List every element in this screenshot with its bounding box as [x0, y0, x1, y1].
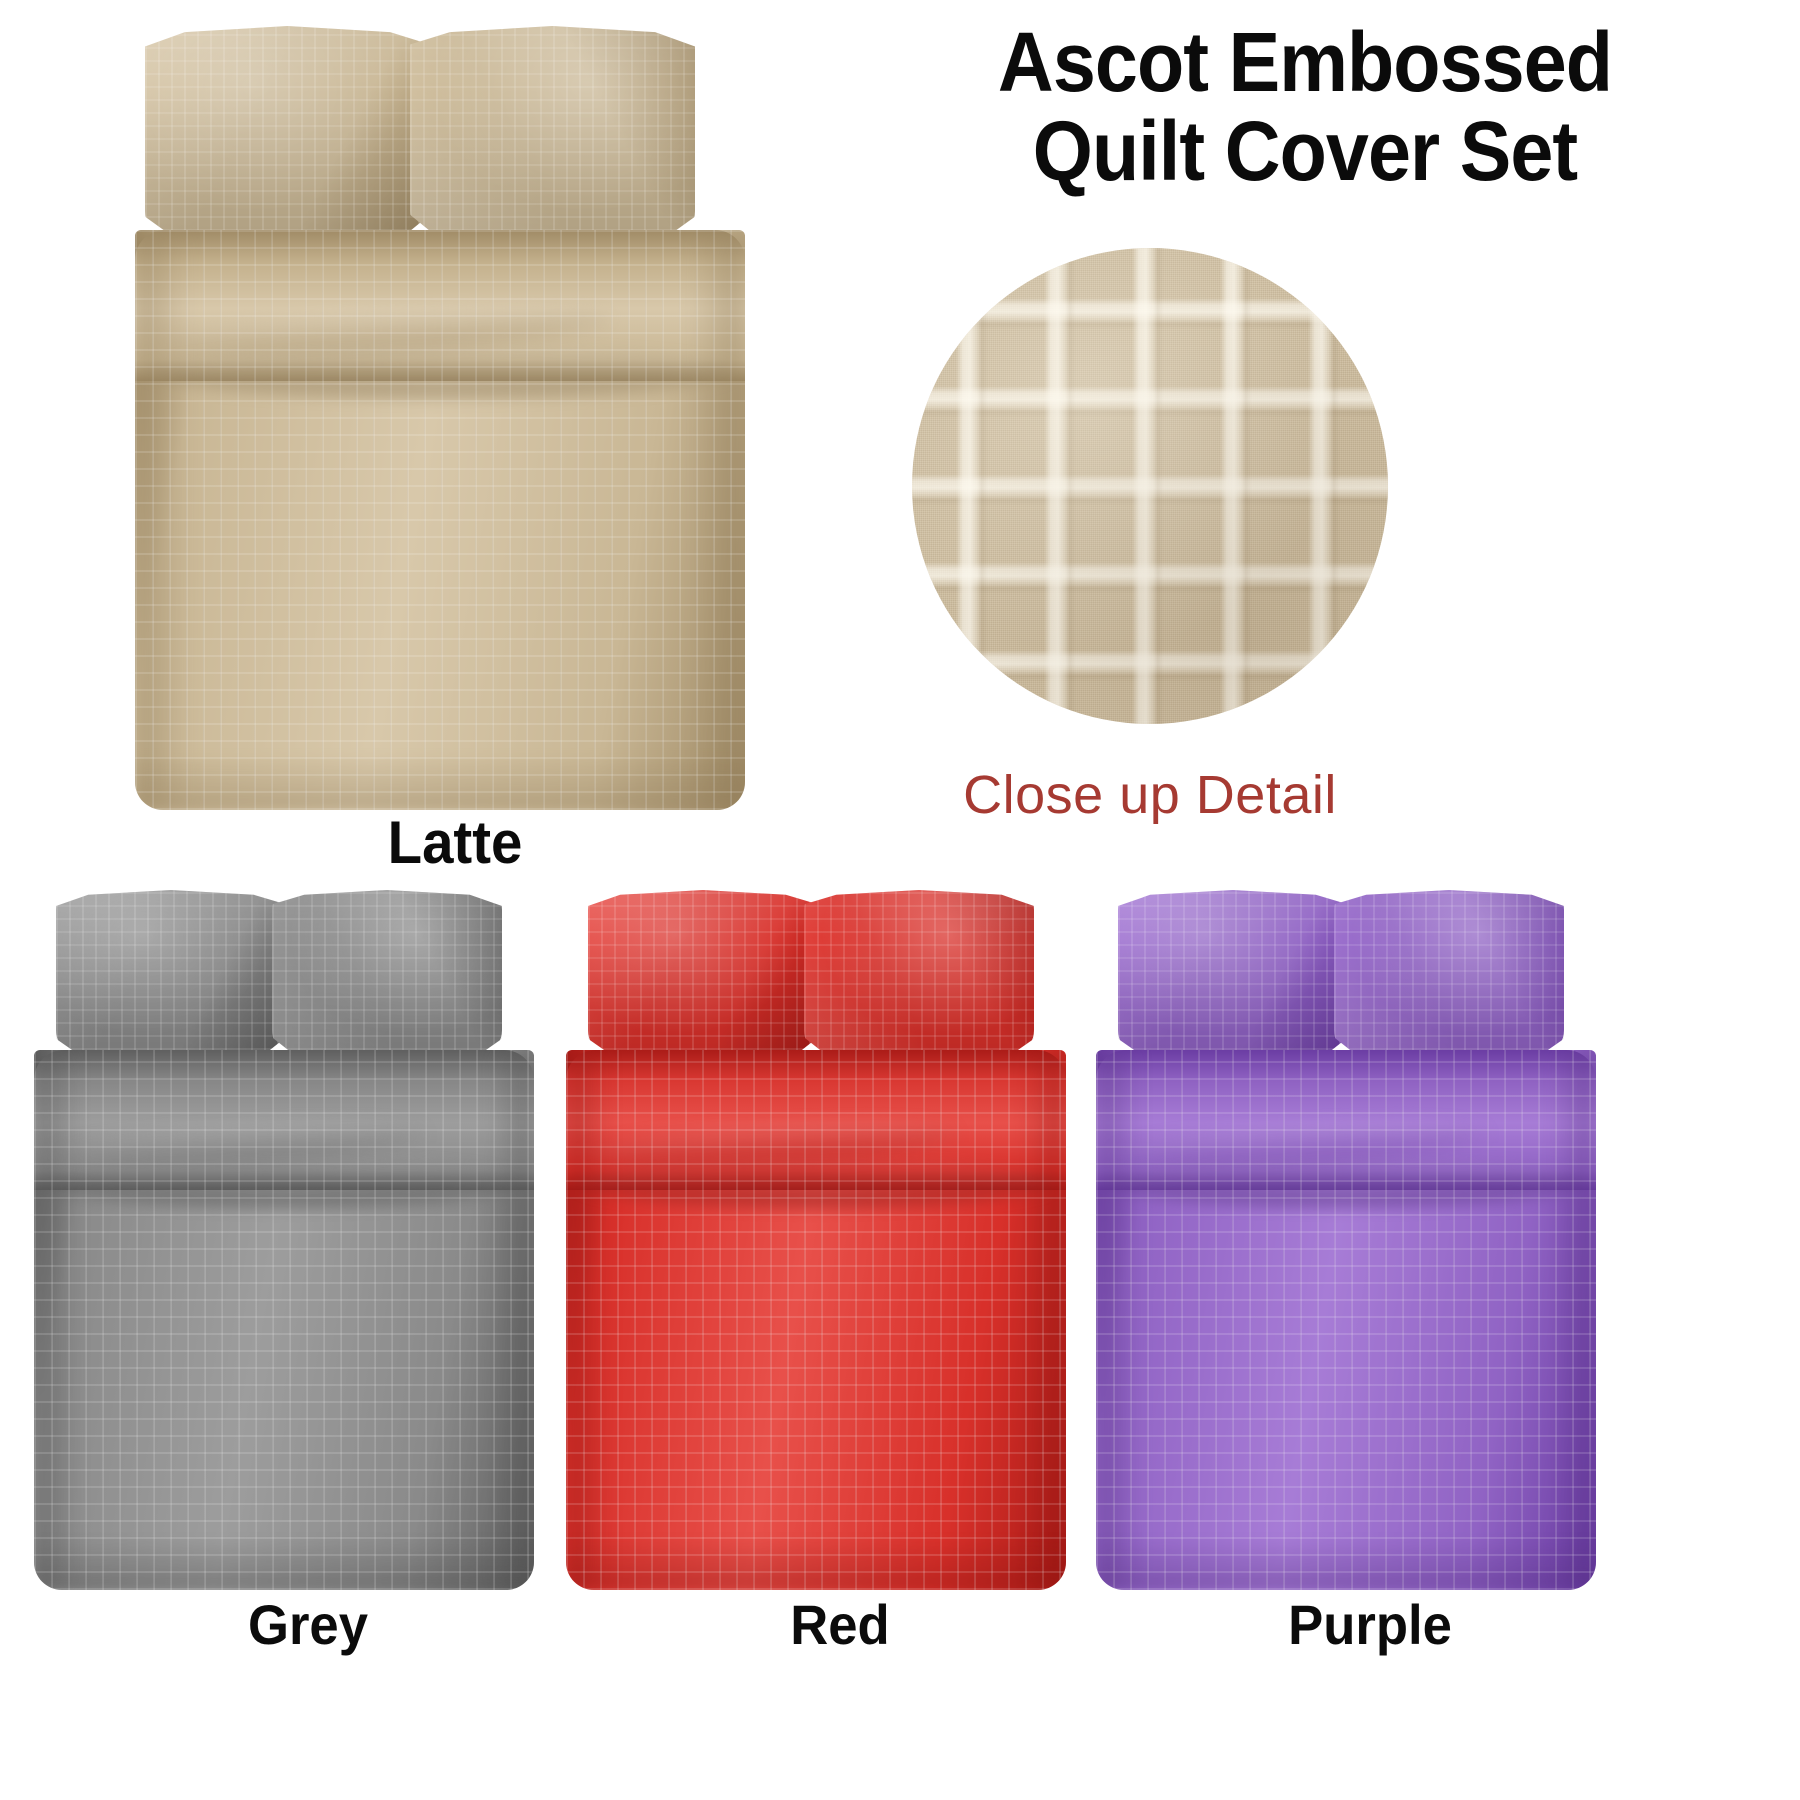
close-up-detail-swatch: [912, 248, 1388, 724]
title-line-1: Ascot Embossed: [877, 18, 1733, 107]
pillow-highlight: [56, 890, 286, 1050]
quilt-cover-red: [566, 1050, 1066, 1590]
title-line-2: Quilt Cover Set: [877, 107, 1733, 196]
pillow-right-grey: [272, 890, 502, 1050]
quilt-right-shadow: [1551, 1050, 1596, 1590]
color-label-latte: Latte: [126, 808, 784, 877]
quilt-right-shadow: [690, 230, 745, 810]
pillow-right-purple: [1334, 890, 1564, 1050]
bed-variant-red: Red: [560, 880, 1120, 1780]
pillow-left-latte: [145, 26, 430, 231]
quilt-left-shadow: [135, 230, 190, 810]
pillow-right-latte: [410, 26, 695, 231]
product-image-canvas: Ascot Embossed Quilt Cover Set Close up …: [0, 0, 1800, 1800]
quilt-cover-grey: [34, 1050, 534, 1590]
pillow-highlight: [272, 890, 502, 1050]
pillow-right-red: [804, 890, 1034, 1050]
quilt-fold-crease: [1106, 1158, 1586, 1207]
quilt-fold-crease: [147, 346, 733, 398]
pillow-highlight: [1334, 890, 1564, 1050]
detail-circle: [912, 248, 1388, 724]
quilt-bottom-shadow: [34, 1536, 534, 1590]
pillow-left-purple: [1118, 890, 1348, 1050]
quilt-right-shadow: [1021, 1050, 1066, 1590]
bed-variant-latte: Latte: [105, 18, 805, 898]
quilt-left-shadow: [34, 1050, 79, 1590]
pillow-highlight: [410, 26, 695, 231]
pillow-highlight: [588, 890, 818, 1050]
page-title: Ascot Embossed Quilt Cover Set: [877, 18, 1733, 196]
pillow-highlight: [145, 26, 430, 231]
bed-variant-purple: Purple: [1090, 880, 1650, 1780]
quilt-bottom-shadow: [135, 752, 745, 810]
quilt-fold-crease: [576, 1158, 1056, 1207]
quilt-left-shadow: [566, 1050, 611, 1590]
quilt-left-shadow: [1096, 1050, 1141, 1590]
detail-lighting-overlay: [912, 248, 1388, 724]
quilt-bottom-shadow: [566, 1536, 1066, 1590]
pillow-highlight: [1118, 890, 1348, 1050]
bed-variant-grey: Grey: [28, 880, 588, 1780]
pillow-left-grey: [56, 890, 286, 1050]
quilt-cover-latte: [135, 230, 745, 810]
color-label-grey: Grey: [45, 1592, 571, 1657]
quilt-right-shadow: [489, 1050, 534, 1590]
color-label-purple: Purple: [1107, 1592, 1633, 1657]
quilt-bottom-shadow: [1096, 1536, 1596, 1590]
quilt-fold-crease: [44, 1158, 524, 1207]
pillow-left-red: [588, 890, 818, 1050]
quilt-cover-purple: [1096, 1050, 1596, 1590]
color-label-red: Red: [577, 1592, 1103, 1657]
pillow-highlight: [804, 890, 1034, 1050]
close-up-detail-label: Close up Detail: [880, 764, 1420, 826]
